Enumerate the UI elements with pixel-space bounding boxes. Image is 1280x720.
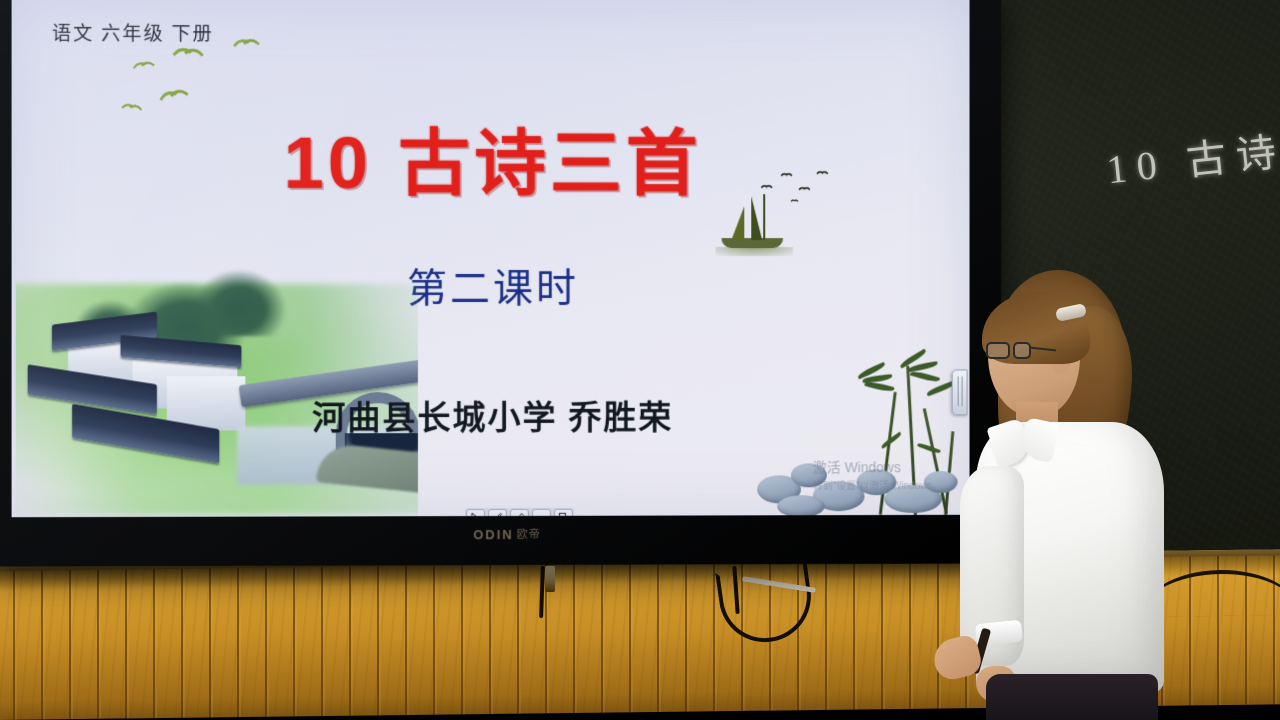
bird-icon	[174, 46, 202, 62]
slide-header-text: 语文 六年级 下册	[52, 19, 214, 47]
bird-icon	[761, 184, 772, 190]
bird-icon	[234, 37, 258, 51]
bamboo-leaf	[864, 380, 894, 393]
teacher-figure	[930, 270, 1180, 720]
watermark-line-2: 转到"设置"以激活 Windows。	[813, 477, 942, 492]
bird-icon	[133, 60, 154, 72]
bird-icon	[817, 170, 828, 176]
classroom-scene: 10 古诗 语文 六年级 下册 10古诗三首 第二课	[0, 0, 1280, 720]
slide-title-text: 古诗三首	[398, 124, 702, 204]
brand-name-cn: 欧帝	[517, 526, 541, 542]
boat-wake	[715, 247, 793, 256]
boat-sail	[731, 206, 744, 240]
slide-title-number: 10	[283, 124, 371, 204]
glasses	[986, 342, 1040, 360]
brand-name: ODIN	[473, 526, 513, 541]
dark-pants	[986, 674, 1158, 720]
annotation-toolbar[interactable]	[465, 508, 574, 517]
glasses-lens	[1013, 342, 1031, 359]
interactive-flat-panel[interactable]: 语文 六年级 下册 10古诗三首 第二课时	[0, 0, 1001, 567]
glasses-lens	[986, 342, 1010, 359]
bird-icon	[781, 172, 792, 178]
windows-activation-watermark: 激活 Windows 转到"设置"以激活 Windows。	[813, 457, 942, 492]
small-birds-decoration	[759, 168, 838, 208]
presentation-slide[interactable]: 语文 六年级 下册 10古诗三首 第二课时	[12, 0, 970, 517]
panel-brand-logo: ODIN 欧帝	[422, 523, 592, 545]
wall-hook	[545, 566, 555, 592]
stone	[777, 495, 825, 517]
bird-icon	[791, 199, 799, 203]
slide-author-line: 河曲县长城小学 乔胜荣	[12, 390, 970, 439]
bird-icon	[799, 186, 810, 192]
watermark-line-1: 激活 Windows	[813, 459, 901, 475]
tree	[193, 270, 285, 336]
select-cursor-icon[interactable]	[466, 509, 485, 517]
